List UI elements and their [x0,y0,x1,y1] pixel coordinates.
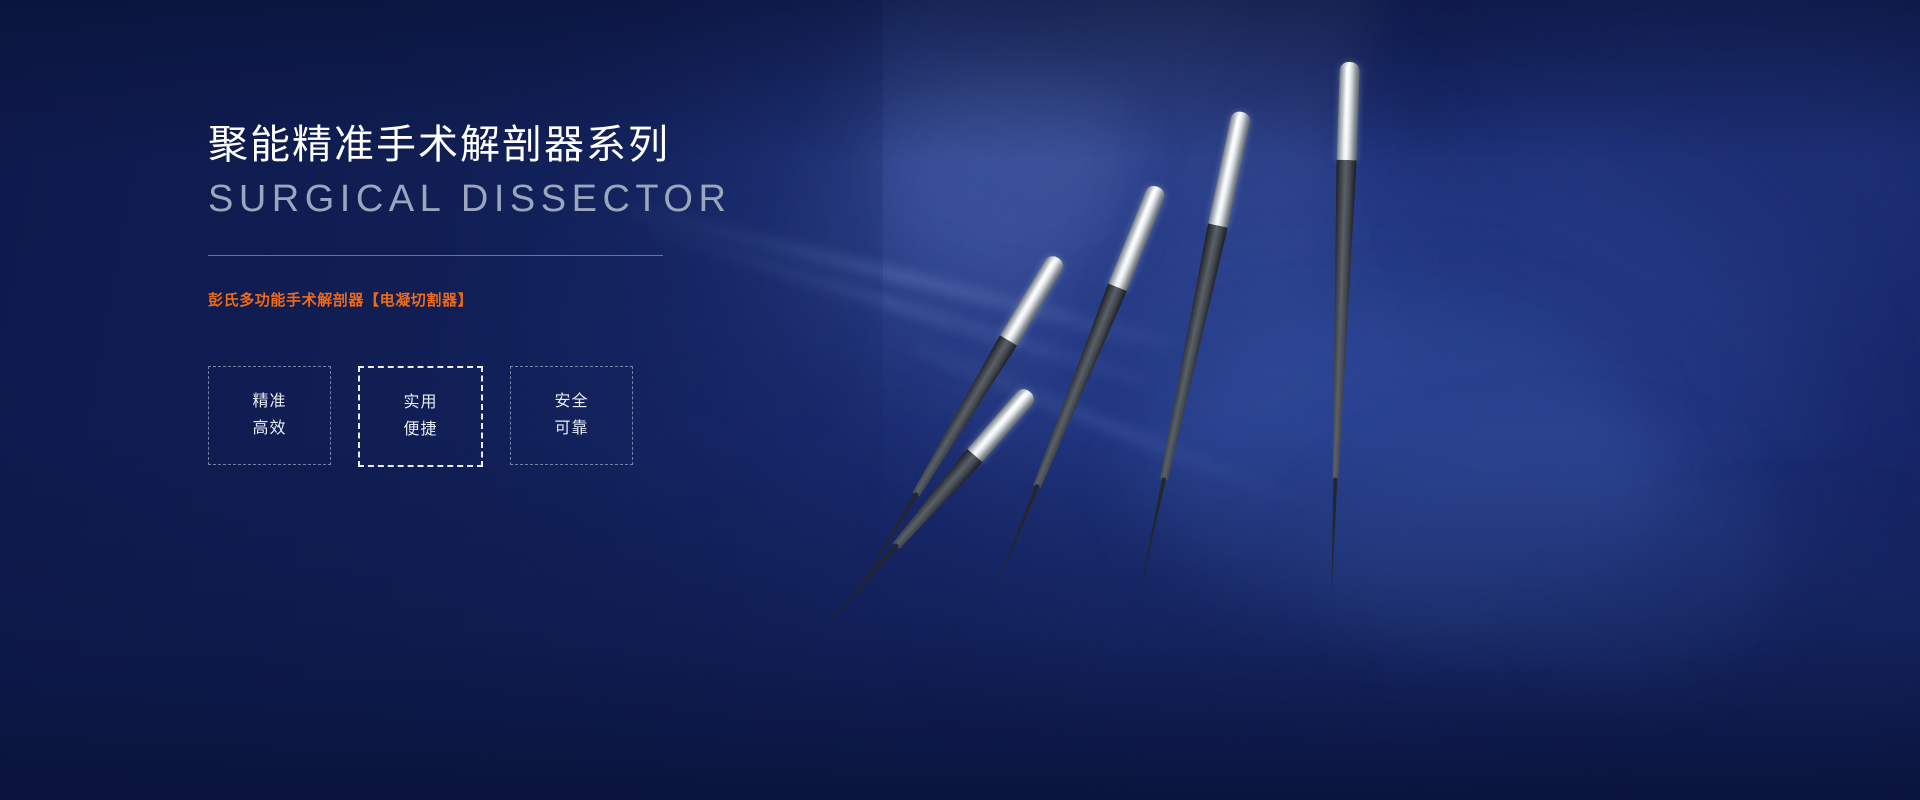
feature-badge-line-2: 高效 [252,415,286,442]
feature-badge-line-1: 精准 [252,388,286,415]
feature-badge-line-2: 可靠 [554,415,588,442]
feature-badge-line-1: 实用 [403,389,437,416]
feature-badge-precision: 精准 高效 [208,366,331,465]
page-title: 聚能精准手术解剖器系列 [208,120,678,170]
feature-badge-practical: 实用 便捷 [358,366,483,467]
feature-badge-line-1: 安全 [554,388,588,415]
page-subtitle-english: SURGICAL DISSECTOR [208,178,678,222]
feature-badge-group: 精准 高效 实用 便捷 安全 可靠 [208,366,678,467]
feature-badge-safety: 安全 可靠 [510,366,633,465]
divider [208,255,663,256]
feature-badge-line-2: 便捷 [403,416,437,443]
product-name-highlight: 彭氏多功能手术解剖器【电凝切割器】 [208,289,678,310]
hero-text-block: 聚能精准手术解剖器系列 SURGICAL DISSECTOR 彭氏多功能手术解剖… [208,120,678,467]
background-bottom-tint [0,432,1920,800]
product-hero-banner: 聚能精准手术解剖器系列 SURGICAL DISSECTOR 彭氏多功能手术解剖… [0,0,1920,800]
